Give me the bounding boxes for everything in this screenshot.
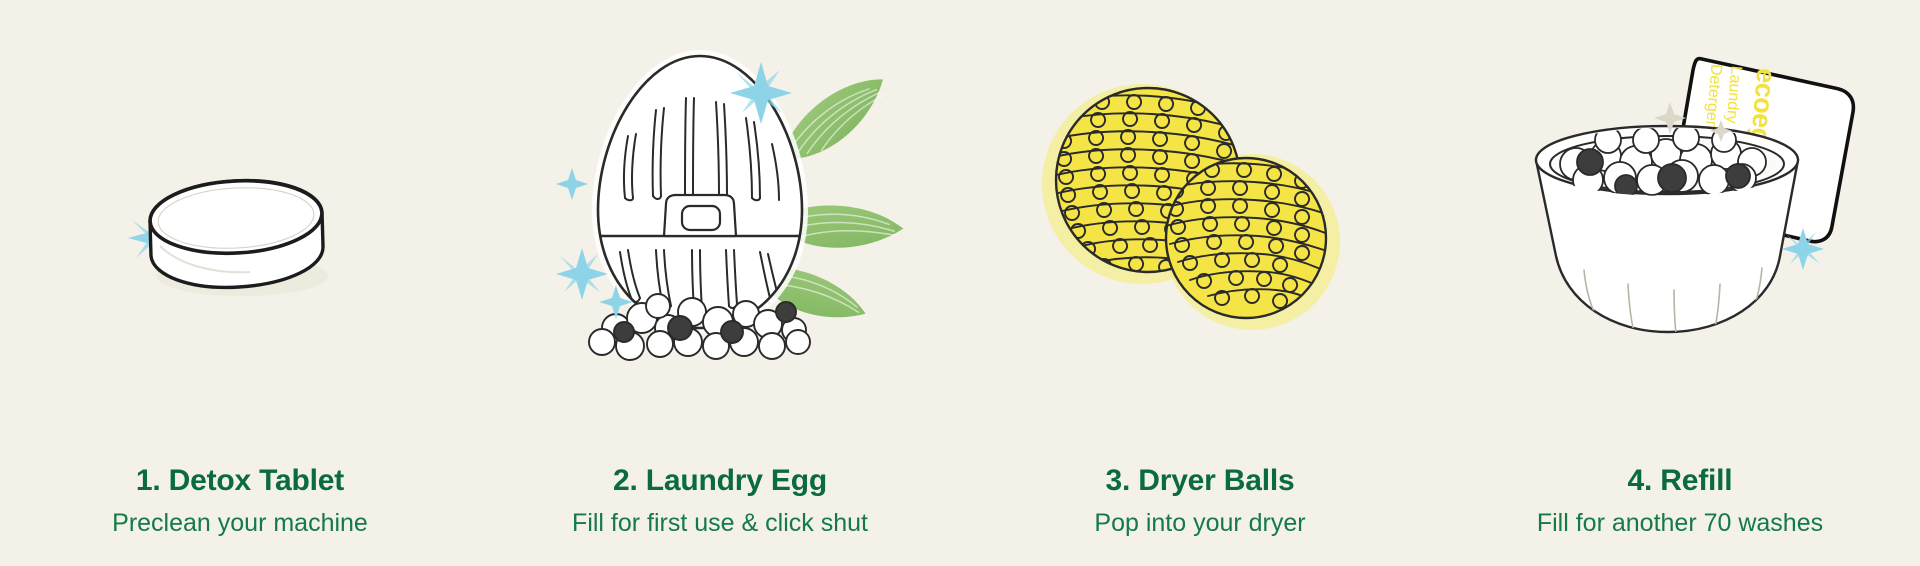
step-laundry-egg: 2. Laundry Egg Fill for first use & clic… xyxy=(480,0,960,566)
step-dryer-balls: 3. Dryer Balls Pop into your dryer xyxy=(960,0,1440,566)
step-title: 2. Laundry Egg xyxy=(480,464,960,499)
how-to-use-steps-board: 1. Detox Tablet Preclean your machine xyxy=(0,0,1920,566)
step-subtitle: Fill for first use & click shut xyxy=(480,508,960,538)
detox-tablet-illustration xyxy=(0,0,480,420)
caption-detox-tablet: 1. Detox Tablet Preclean your machine xyxy=(0,464,480,539)
caption-refill: 4. Refill Fill for another 70 washes xyxy=(1440,464,1920,539)
dryer-balls-illustration xyxy=(960,0,1440,420)
tablet-shape xyxy=(148,177,324,288)
step-refill: ecoegg Laundry Egg Detergent Refills xyxy=(1440,0,1920,566)
step-subtitle: Fill for another 70 washes xyxy=(1440,508,1920,538)
step-title: 3. Dryer Balls xyxy=(960,464,1440,499)
step-title: 1. Detox Tablet xyxy=(0,464,480,499)
refill-bowl xyxy=(1536,125,1798,334)
step-title: 4. Refill xyxy=(1440,464,1920,499)
refill-illustration: ecoegg Laundry Egg Detergent Refills xyxy=(1440,0,1920,420)
caption-laundry-egg: 2. Laundry Egg Fill for first use & clic… xyxy=(480,464,960,539)
caption-dryer-balls: 3. Dryer Balls Pop into your dryer xyxy=(960,464,1440,539)
laundry-egg-illustration xyxy=(480,0,960,420)
step-subtitle: Preclean your machine xyxy=(0,508,480,538)
step-detox-tablet: 1. Detox Tablet Preclean your machine xyxy=(0,0,480,566)
step-subtitle: Pop into your dryer xyxy=(960,508,1440,538)
